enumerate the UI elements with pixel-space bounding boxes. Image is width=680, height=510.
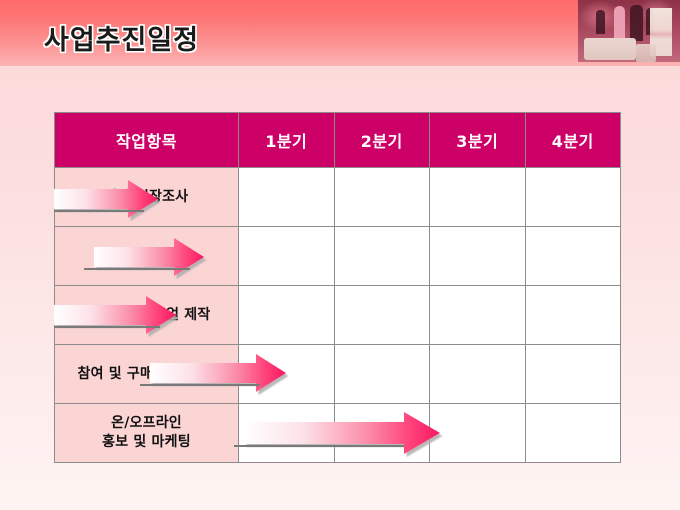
column-header-q3: 3분기 [430,113,526,168]
bar-cell-q2 [334,404,430,463]
corner-photo [578,0,680,62]
bar-cell-q1 [239,227,335,286]
bar-cell-q1 [239,345,335,404]
bar-cell-q4 [525,168,621,227]
bar-cell-q1 [239,286,335,345]
table-row: 온/오프라인 홍보 및 마케팅 [55,404,621,463]
task-label: 사업 운영매뉴얼 제작 [55,286,239,345]
task-label-line2: 홍보 및 마케팅 [55,433,238,452]
bar-cell-q4 [525,227,621,286]
bar-cell-q3 [430,286,526,345]
column-header-q2: 2분기 [334,113,430,168]
page-title: 사업추진일정 [44,18,199,57]
column-header-q4: 4분기 [525,113,621,168]
task-label: 사전 시장조사 [55,168,239,227]
schedule-table: 작업항목 1분기 2분기 3분기 4분기 사전 시장조사 사이트 구축 [54,112,621,463]
bar-cell-q1 [239,168,335,227]
bar-cell-q3 [430,345,526,404]
bar-cell-q4 [525,286,621,345]
photo-figure [614,6,625,38]
bar-cell-q3 [430,404,526,463]
bar-cell-q1 [239,404,335,463]
bar-cell-q2 [334,227,430,286]
task-label: 참여 및 구매 업체 확보 [55,345,239,404]
bar-cell-q2 [334,168,430,227]
table-row: 참여 및 구매 업체 확보 [55,345,621,404]
task-label: 온/오프라인 홍보 및 마케팅 [55,404,239,463]
task-label: 사이트 구축 [55,227,239,286]
photo-figure [630,5,643,41]
column-header-q1: 1분기 [239,113,335,168]
slide-canvas: 사업추진일정 작업항목 1분기 2분기 3분기 4분기 사전 시장조사 [0,0,680,510]
bar-cell-q2 [334,286,430,345]
table-row: 사전 시장조사 [55,168,621,227]
table-row: 사업 운영매뉴얼 제작 [55,286,621,345]
bar-cell-q3 [430,168,526,227]
bar-cell-q4 [525,345,621,404]
column-header-task: 작업항목 [55,113,239,168]
task-label-line1: 온/오프라인 [55,414,238,433]
bar-cell-q3 [430,227,526,286]
photo-figure [596,10,605,34]
photo-table-foreground [584,38,636,60]
photo-table-foreground [636,44,656,62]
table-header-row: 작업항목 1분기 2분기 3분기 4분기 [55,113,621,168]
table-row: 사이트 구축 [55,227,621,286]
bar-cell-q2 [334,345,430,404]
bar-cell-q4 [525,404,621,463]
